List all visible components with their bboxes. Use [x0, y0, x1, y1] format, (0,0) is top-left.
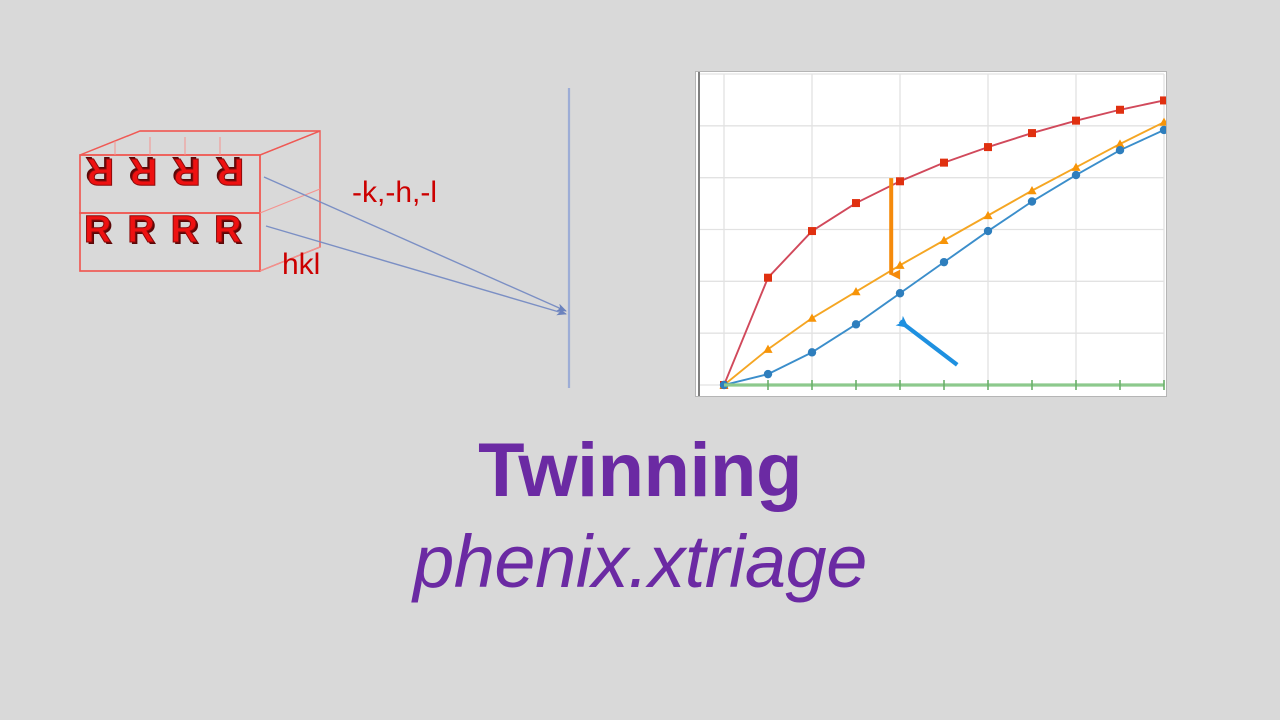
marker-circle — [1028, 197, 1036, 205]
box-letters-top-row: R R R R — [84, 150, 244, 192]
page-subtitle: phenix.xtriage — [0, 516, 1280, 608]
marker-circle — [1116, 146, 1124, 154]
title-block: Twinning phenix.xtriage — [0, 428, 1280, 608]
marker-square — [1028, 129, 1036, 137]
slide-canvas: R R R R R R R R -k,-h,-l hkl — [0, 0, 1280, 720]
label-minus-k-minus-h-minus-l: -k,-h,-l — [352, 176, 437, 210]
cumulative-intensity-chart — [695, 71, 1167, 397]
label-hkl: hkl — [282, 248, 320, 282]
page-title: Twinning — [0, 428, 1280, 514]
box-letters-bottom-row: R R R R — [84, 209, 244, 251]
box-twin-plane-edge — [260, 189, 320, 213]
marker-circle — [1072, 171, 1080, 179]
marker-square — [1116, 106, 1124, 114]
marker-circle — [940, 258, 948, 266]
marker-square — [896, 177, 904, 185]
marker-square — [984, 143, 992, 151]
chart-svg — [696, 72, 1166, 396]
marker-square — [1072, 117, 1080, 125]
marker-square — [1160, 96, 1166, 104]
marker-circle — [984, 227, 992, 235]
marker-square — [940, 159, 948, 167]
twinned-crystal-box: R R R R R R R R — [60, 125, 380, 305]
marker-circle — [808, 348, 816, 356]
marker-circle — [852, 320, 860, 328]
marker-circle — [764, 370, 772, 378]
marker-square — [808, 227, 816, 235]
marker-square — [852, 199, 860, 207]
marker-circle — [896, 289, 904, 297]
marker-square — [764, 274, 772, 282]
